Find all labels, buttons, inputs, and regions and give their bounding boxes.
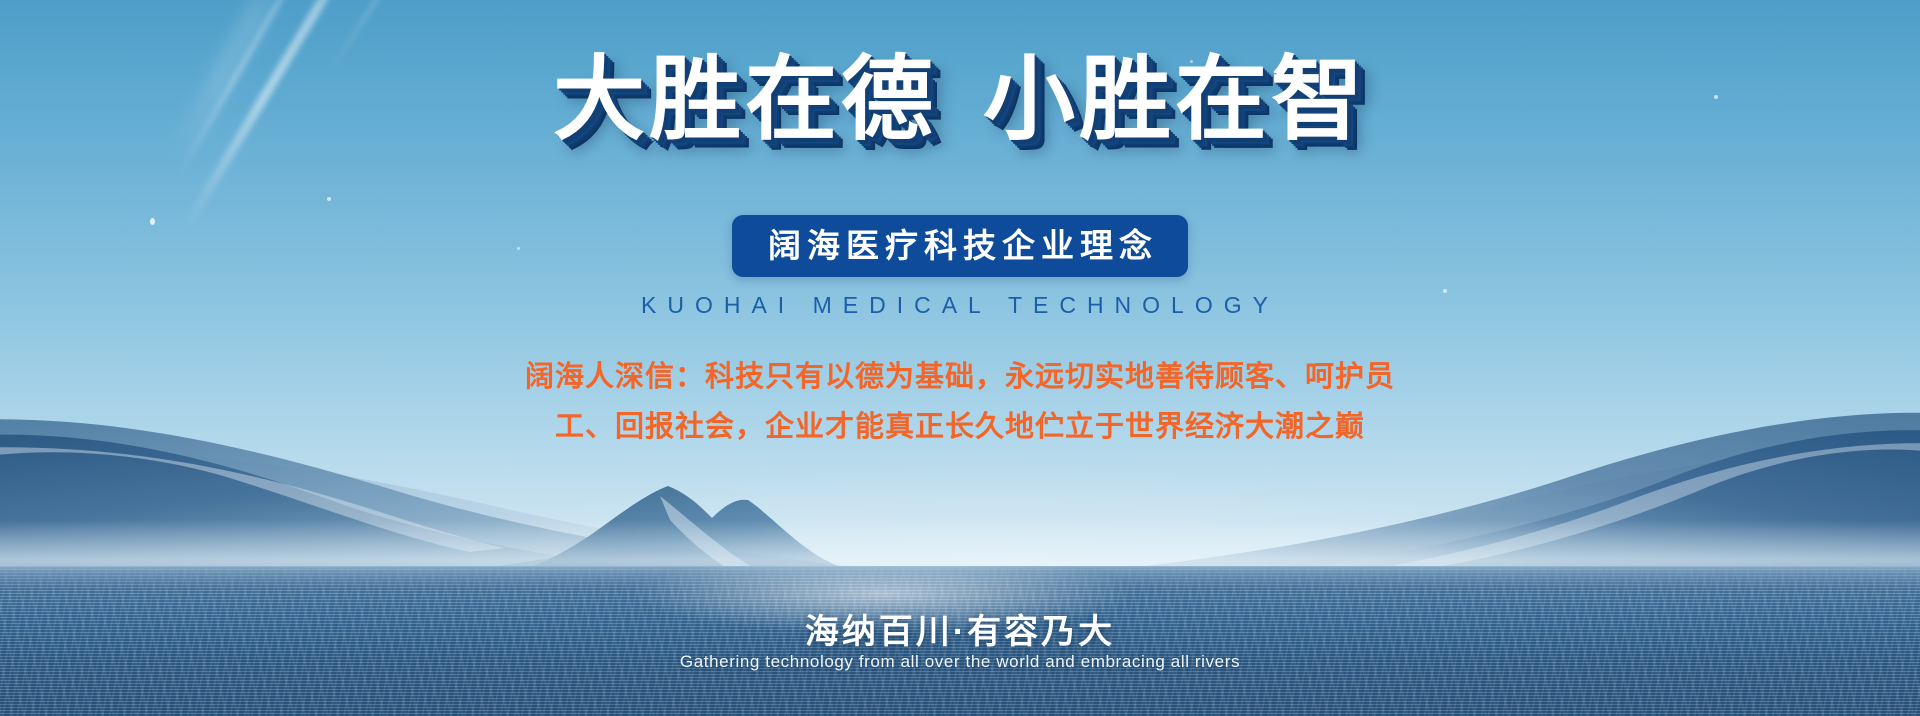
banner-content: 大胜在德小胜在智 阔海医疗科技企业理念 KUOHAI MEDICAL TECHN… (0, 0, 1920, 716)
statement-line-2: 工、回报社会，企业才能真正长久地伫立于世界经济大潮之巅 (445, 402, 1475, 452)
main-title-right: 小胜在智 (983, 49, 1367, 151)
company-philosophy-badge[interactable]: 阔海医疗科技企业理念 (732, 215, 1188, 277)
badge-container: 阔海医疗科技企业理念 (0, 215, 1920, 277)
statement-line-1: 阔海人深信：科技只有以德为基础，永远切实地善待顾客、呵护员 (445, 352, 1475, 402)
main-title-left: 大胜在德 (553, 49, 937, 151)
motto-chinese: 海纳百川·有容乃大 (0, 604, 1920, 653)
subtitle-english: KUOHAI MEDICAL TECHNOLOGY (0, 292, 1920, 319)
hero-banner: 大胜在德小胜在智 阔海医疗科技企业理念 KUOHAI MEDICAL TECHN… (0, 0, 1920, 716)
philosophy-statement: 阔海人深信：科技只有以德为基础，永远切实地善待顾客、呵护员 工、回报社会，企业才… (445, 352, 1475, 452)
motto-english: Gathering technology from all over the w… (0, 652, 1920, 672)
main-title: 大胜在德小胜在智 (0, 48, 1920, 154)
